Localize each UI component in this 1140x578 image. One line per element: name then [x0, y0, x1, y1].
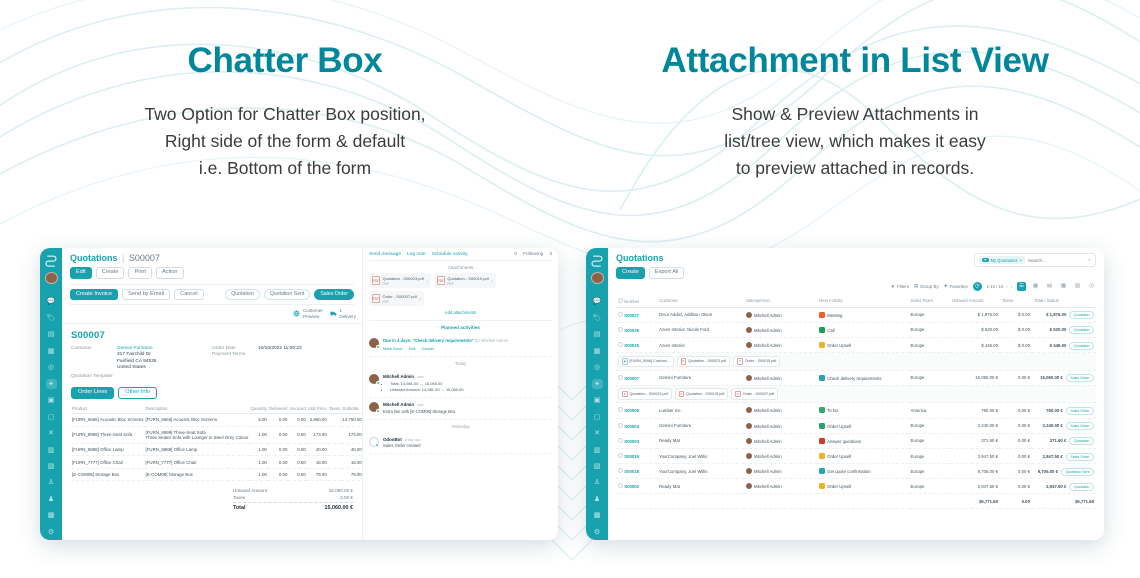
screenshot-list-view: 💬 🏷 ▤ ▦ ◎ ✦ ▣ ▢ ✕ ▥ ▧ ♙ ♟ ▩ ⚙ Quotations…	[586, 248, 1104, 540]
avatar	[369, 437, 379, 447]
sidebar-icon-employees[interactable]: ▧	[46, 461, 57, 471]
cell-delivered: 0.00	[268, 426, 289, 443]
send-by-email-button[interactable]: Send by Email	[122, 289, 170, 301]
day-separator: Yesterday	[369, 424, 552, 429]
cell-quantity: 5.00	[250, 414, 268, 426]
pivot-view-icon[interactable]: ▩	[1059, 282, 1068, 291]
avatar	[746, 312, 752, 318]
pdf-icon: PDF	[437, 276, 445, 285]
cell-invoiced: 0.00	[288, 414, 306, 426]
cell-next-activity: Call	[817, 322, 908, 337]
pdf-icon: P	[737, 358, 743, 365]
avatar[interactable]	[591, 272, 604, 284]
sidebar-icon-crm[interactable]: ✦	[46, 379, 57, 389]
chatter-panel: Send message Log note Schedule activity …	[362, 248, 558, 540]
sidebar-icon-contacts[interactable]: ♟	[46, 494, 57, 504]
globe-icon	[293, 310, 300, 317]
activity-icon	[819, 327, 825, 333]
subtitle-line: Show & Preview Attachments in	[570, 101, 1140, 128]
sidebar-icon-purchase[interactable]: ◎	[46, 362, 57, 372]
cell-sales-team: Europe	[909, 418, 950, 433]
cell-next-activity: Answer questions	[817, 433, 908, 448]
table-row[interactable]: [FURN_8888] Office Lamp[FURN_8888] Offic…	[71, 444, 366, 456]
col-quantity[interactable]: Quantity	[250, 404, 268, 414]
row-checkbox[interactable]	[618, 453, 623, 458]
create-invoice-button[interactable]: Create Invoice	[70, 289, 118, 301]
smart-label-bottom: Delivery	[339, 314, 356, 320]
sidebar-icon-inventory[interactable]: ▦	[592, 346, 603, 356]
cancel-button[interactable]: Cancel	[174, 289, 203, 301]
sidebar-icon-apps[interactable]: ▩	[592, 510, 603, 520]
attachment-name: Quotation - S00015.pdf	[686, 392, 724, 396]
avatar	[746, 423, 752, 429]
field-row: 317 Fairchild Dr	[71, 352, 212, 357]
col-customer[interactable]: Customer	[657, 295, 744, 308]
chatter-action-bar: Send message Log note Schedule activity …	[369, 252, 552, 261]
field-row: Fairfield CA 94535	[71, 359, 212, 364]
search-input[interactable]	[1028, 258, 1085, 263]
activity-icon	[819, 468, 825, 474]
cell-salesperson: Mitchell Admin	[744, 370, 817, 385]
day-separator: Today	[369, 361, 552, 366]
page-subtitle-right: Show & Preview Attachments in list/tree …	[570, 101, 1140, 183]
form-body: S00007 Customer Gemini Furniture 317 Fai…	[62, 324, 362, 519]
attachment-chip[interactable]: POrder - S00007.pdf	[731, 388, 778, 400]
status-badge: Quotation	[1069, 437, 1094, 445]
sidebar-icon-timesheets[interactable]: ▥	[46, 444, 57, 454]
sidebar-icon-recruitment[interactable]: ♙	[46, 477, 57, 487]
cell-taxes: $ 0.00	[1000, 307, 1032, 322]
add-attachments-button[interactable]: Add attachments	[369, 310, 552, 315]
field-row: Quotation Template	[71, 374, 212, 379]
cell-salesperson: Mitchell Admin	[744, 418, 817, 433]
status-badge: Sales Order	[1066, 422, 1094, 430]
smart-buttons: Customer Preview 1 Delivery	[62, 305, 362, 323]
odoo-logo-icon[interactable]	[589, 253, 605, 268]
cell-salesperson: Mitchell Admin	[744, 464, 817, 479]
sidebar-icon-discuss[interactable]: 💬	[46, 296, 57, 306]
status-badge: Quotation	[1069, 483, 1094, 491]
sidebar-icon-purchase[interactable]: ◎	[592, 362, 603, 372]
cell-salesperson: Mitchell Admin	[744, 322, 817, 337]
follower-num[interactable]: 3	[549, 252, 552, 257]
col-description[interactable]: Description	[145, 404, 250, 414]
cell-customer: Ready Mat	[657, 479, 744, 494]
message-text: Sales Order created	[383, 443, 552, 449]
attachment-name: Quotation - S00023.pdf	[688, 359, 726, 363]
page-title-right: Attachment in List View	[570, 42, 1140, 81]
cell-untaxed: 2,947.50 €	[950, 448, 1000, 463]
download-icon[interactable]: ⤓	[426, 279, 428, 283]
cell-next-activity: Meeting	[817, 307, 908, 322]
total-value: 15,060.00 €	[329, 488, 353, 493]
search-bar[interactable]: ▼ My Quotations × ⌕	[974, 253, 1096, 267]
cell-quantity: 1.00	[250, 456, 268, 468]
cell-description: [FURN_7777] Office Chair	[145, 456, 250, 468]
kanban-view-icon[interactable]: ▦	[1031, 282, 1040, 291]
sidebar-icon-project[interactable]: ▣	[46, 395, 57, 405]
cell-invoiced: 0.00	[288, 468, 306, 480]
graph-view-icon[interactable]: ▨	[1073, 282, 1082, 291]
avatar	[746, 438, 752, 444]
cell-taxes: 0.00 €	[1000, 448, 1032, 463]
field-column-right: Order Date 10/10/2022 11:00:23 Payment T…	[212, 346, 353, 381]
sidebar-icon-employees[interactable]: ▧	[592, 461, 603, 471]
action-button[interactable]: Action	[156, 267, 184, 279]
cell-invoiced: 0.00	[288, 426, 306, 443]
control-panel: Quotations | S00007 Edit Create Print Ac…	[62, 248, 362, 305]
tab-order-lines[interactable]: Order Lines	[71, 387, 114, 400]
cell-next-activity: To Do	[817, 403, 908, 418]
status-badge: Quotation	[1069, 311, 1094, 319]
cell-unit-price: 79.00	[307, 468, 328, 480]
table-row[interactable]: S00018YourCompany, Joel WillisMitchell A…	[616, 464, 1096, 479]
attachment-name: Order - S00015.pdf	[745, 359, 777, 363]
page-title-left: Chatter Box	[0, 42, 570, 81]
cancel-activity-button[interactable]: Cancel	[421, 346, 433, 352]
cell-taxes	[328, 414, 341, 426]
cell-untaxed: $ 520.00	[950, 322, 1000, 337]
status-badge: Sales Order	[1066, 407, 1094, 415]
message-author: Mitchell Admin	[383, 402, 414, 407]
table-row[interactable]: S00003Ready MatMitchell AdminAnswer ques…	[616, 433, 1096, 448]
field-column-left: Customer Gemini Furniture 317 Fairchild …	[71, 346, 212, 381]
log-note-button[interactable]: Log note	[407, 252, 426, 257]
mark-done-button[interactable]: Mark Done	[383, 346, 403, 352]
attachment-chip[interactable]: PQuotation - S00023.pdf	[677, 356, 731, 368]
calendar-view-icon[interactable]: ▤	[1045, 282, 1054, 291]
field-row: Customer Gemini Furniture	[71, 346, 212, 351]
col-unit-price[interactable]: Unit Price	[307, 404, 328, 414]
smart-label-bottom: Preview	[303, 314, 323, 320]
row-checkbox[interactable]	[618, 468, 623, 473]
breadcrumb-root[interactable]: Quotations	[70, 253, 118, 263]
col-taxes[interactable]: Taxes	[328, 404, 341, 414]
screenshot-form-view: 💬 🏷 ▤ ▦ ◎ ✦ ▣ ▢ ✕ ▥ ▧ ♙ ♟ ▩ ⚙ Quotations…	[40, 248, 558, 540]
total-row-total: Total 15,060.00 €	[233, 502, 353, 513]
sidebar-icon-contacts[interactable]: ♟	[592, 494, 603, 504]
status-quotation[interactable]: Quotation	[225, 289, 260, 300]
pager[interactable]: 1-10 / 10 ‹ ›	[987, 284, 1012, 289]
sidebar-icon-timesheets[interactable]: ▥	[592, 444, 603, 454]
pager-prev-icon[interactable]: ‹	[1006, 284, 1007, 289]
list-toolbar: ▼ Filters ▤ Group By ★ Favorites ◷ 1-10 …	[608, 279, 1104, 295]
attachment-name: Quotation - S00023.pdf	[630, 392, 668, 396]
cell-number: S00027	[616, 307, 657, 322]
footer-total: 36,771.60	[1032, 494, 1096, 508]
col-invoiced[interactable]: Invoiced	[288, 404, 306, 414]
attachment-chip-list: ▣[FURN_0096] Customi...PQuotation - S000…	[618, 356, 1094, 368]
sidebar-icon-invoicing[interactable]: ▤	[592, 329, 603, 339]
avatar	[746, 342, 752, 348]
cell-untaxed: $ 1,876.00	[950, 307, 1000, 322]
header-column-right: Attachment in List View Show & Preview A…	[570, 0, 1140, 215]
sidebar-icon-discuss[interactable]: 💬	[592, 296, 603, 306]
attachment-type: PDF	[383, 300, 389, 304]
print-button[interactable]: Print	[128, 267, 152, 279]
cell-quantity: 1.00	[250, 468, 268, 480]
sidebar-icon-project[interactable]: ▣	[592, 395, 603, 405]
field-grid: Customer Gemini Furniture 317 Fairchild …	[71, 346, 353, 381]
cell-number: S00025	[616, 337, 657, 352]
activity-icon	[819, 312, 825, 318]
col-taxes[interactable]: Taxes	[1000, 295, 1032, 308]
table-row[interactable]: S00007Gemini FurnitureMitchell AdminChec…	[616, 370, 1096, 385]
row-checkbox[interactable]	[618, 375, 623, 380]
message-author: Mitchell Admin	[383, 374, 414, 379]
field-label-payment-terms: Payment Terms	[212, 352, 258, 357]
table-row[interactable]: S00019YourCompany, Joel WillisMitchell A…	[616, 448, 1096, 463]
download-icon[interactable]: ⤓	[491, 279, 493, 283]
col-salesperson[interactable]: Salesperson	[744, 295, 817, 308]
table-row[interactable]: [FURN_7777] Office Chair[FURN_7777] Offi…	[71, 456, 366, 468]
avatar	[746, 468, 752, 474]
cell-taxes: $ 0.00	[1000, 337, 1032, 352]
avatar	[746, 453, 752, 459]
schedule-activity-button[interactable]: Schedule activity	[432, 252, 468, 257]
cell-delivered: 0.00	[268, 414, 289, 426]
total-label: Total	[233, 505, 245, 511]
cell-next-activity: Get quote confirmation	[817, 464, 908, 479]
cell-total-status: $ 520.00Quotation	[1032, 322, 1096, 337]
attachment-chip[interactable]: POrder - S00015.pdf	[733, 356, 780, 368]
col-total-status[interactable]: Total / Status	[1032, 295, 1096, 308]
cell-salesperson: Mitchell Admin	[744, 403, 817, 418]
row-checkbox[interactable]	[618, 438, 623, 443]
cell-number: S00004	[616, 418, 657, 433]
order-lines-table: Product Description Quantity Delivered I…	[71, 404, 366, 481]
table-row[interactable]: [FURN_8999] Three-Seat Sofa[FURN_8999] T…	[71, 426, 366, 443]
avatar	[369, 402, 379, 412]
total-label: Taxes	[233, 495, 245, 500]
send-message-button[interactable]: Send message	[369, 252, 401, 257]
status-badge: Sales Order	[1066, 374, 1094, 382]
table-footer-row: 36,771.60 0.00 36,771.60	[616, 494, 1096, 508]
list-button-row: Create Export All	[616, 267, 684, 279]
row-checkbox[interactable]	[618, 312, 623, 317]
cell-delivered: 0.00	[268, 444, 289, 456]
app-sidebar-left[interactable]: 💬 🏷 ▤ ▦ ◎ ✦ ▣ ▢ ✕ ▥ ▧ ♙ ♟ ▩ ⚙	[40, 248, 62, 540]
attachments-title: Attachments	[369, 265, 552, 270]
sidebar-icon-apps[interactable]: ▩	[46, 510, 57, 520]
activity-subject: "Check delivery requirements"	[413, 338, 474, 343]
field-label: Customer	[71, 346, 117, 351]
message-bullet: Untaxed Amount: 14,981.00 → 15,060.00	[390, 387, 552, 393]
footer-untaxed: 36,771.60	[950, 494, 1000, 508]
pdf-icon: P	[735, 391, 741, 398]
cell-unit-price: 18.00	[307, 456, 328, 468]
sidebar-icon-inventory[interactable]: ▦	[46, 346, 57, 356]
cell-customer: Gemini Furniture	[657, 370, 744, 385]
cell-next-activity: Order Upsell	[817, 337, 908, 352]
attachment-chip[interactable]: PDFQuotation - S00023.pdfPDF⤓	[369, 273, 431, 288]
sidebar-icon-settings[interactable]: ⚙	[46, 527, 57, 537]
cell-total-status: 9,705.00 €Quotation Sent	[1032, 464, 1096, 479]
table-row[interactable]: S00027Deco Addict, Addison OlsonMitchell…	[616, 307, 1096, 322]
attachment-chip-list: PDFQuotation - S00023.pdfPDF⤓PDFQuotatio…	[369, 273, 552, 306]
table-row[interactable]: [E-COM08] Storage Box[E-COM08] Storage B…	[71, 468, 366, 480]
totals-block: Untaxed Amount 15,060.00 € Taxes 0.00 € …	[233, 486, 353, 512]
favorites-button[interactable]: ★ Favorites	[944, 283, 968, 289]
attachment-name: Order - S00007.pdf	[383, 294, 417, 299]
sidebar-icon-website[interactable]: ▢	[592, 411, 603, 421]
table-header-row: Product Description Quantity Delivered I…	[71, 404, 366, 414]
cell-customer: Azure Interior	[657, 337, 744, 352]
sidebar-icon-recruitment[interactable]: ♙	[592, 477, 603, 487]
cell-total-status: 371.60 €Quotation	[1032, 433, 1096, 448]
cell-number: S00002	[616, 479, 657, 494]
export-all-button[interactable]: Export All	[649, 267, 685, 279]
group-by-button[interactable]: ▤ Group By	[914, 283, 939, 289]
cell-next-activity: Order Upsell	[817, 418, 908, 433]
row-checkbox[interactable]	[618, 327, 623, 332]
facet-label: My Quotations	[991, 258, 1018, 263]
field-value-order-date[interactable]: 10/10/2022 11:00:23	[258, 346, 302, 351]
form-notebook-tabs: Order Lines Other Info	[71, 387, 353, 400]
sidebar-icon-manufacturing[interactable]: ✕	[592, 428, 603, 438]
search-icon[interactable]: ⌕	[1088, 257, 1091, 263]
sidebar-icon-website[interactable]: ▢	[46, 411, 57, 421]
list-pane: Quotations Create Export All ▼ My Quotat…	[608, 248, 1104, 540]
col-number[interactable]: Number	[616, 295, 657, 308]
attachment-chip[interactable]: PQuotation - S00023.pdf	[618, 388, 672, 400]
cell-salesperson: Mitchell Admin	[744, 433, 817, 448]
subtitle-line: Right side of the form & default	[0, 128, 570, 155]
cell-number: S00026	[616, 322, 657, 337]
tab-other-info[interactable]: Other Info	[118, 387, 157, 400]
cell-unit-price: 173.00	[307, 426, 328, 443]
avatar[interactable]	[45, 272, 58, 284]
activity-buttons: Mark Done Edit Cancel	[383, 346, 552, 352]
sidebar-icon-invoicing[interactable]: ▤	[46, 329, 57, 339]
table-row[interactable]: S00026Azure Interior, Nicole FordMitchel…	[616, 322, 1096, 337]
truck-icon	[330, 310, 337, 317]
status-quotation-sent[interactable]: Quotation Sent	[264, 289, 311, 300]
row-checkbox[interactable]	[618, 407, 623, 412]
sidebar-icon-settings[interactable]: ⚙	[592, 527, 603, 537]
sidebar-icon-sales[interactable]: 🏷	[592, 313, 603, 323]
odoo-logo-icon[interactable]	[43, 253, 59, 268]
sidebar-icon-crm[interactable]: ✦	[592, 379, 603, 389]
list-control-panel: Quotations Create Export All ▼ My Quotat…	[608, 248, 1104, 279]
table-row[interactable]: S00006Lumber IncMitchell AdminTo DoAmeri…	[616, 403, 1096, 418]
col-product[interactable]: Product	[71, 404, 145, 414]
cell-total-status: 760.00 €Sales Order	[1032, 403, 1096, 418]
sidebar-icon-sales[interactable]: 🏷	[46, 313, 57, 323]
cell-sales-team: Europe	[909, 448, 950, 463]
cell-sales-team: Europe	[909, 322, 950, 337]
attachment-chip[interactable]: PDFOrder - S00007.pdfPDF⤓	[369, 291, 424, 306]
app-sidebar-right[interactable]: 💬 🏷 ▤ ▦ ◎ ✦ ▣ ▢ ✕ ▥ ▧ ♙ ♟ ▩ ⚙	[586, 248, 608, 540]
row-checkbox[interactable]	[618, 342, 623, 347]
list-view-icon[interactable]: ☰	[1017, 282, 1026, 291]
attachment-chip[interactable]: PQuotation - S00015.pdf	[675, 388, 729, 400]
customer-street: 317 Fairchild Dr	[117, 352, 151, 357]
chatter-message: OdooBota day agoSales Order created	[369, 433, 552, 454]
table-row[interactable]: S00025Azure InteriorMitchell AdminOrder …	[616, 337, 1096, 352]
table-row[interactable]: [FURN_6666] Acoustic Bloc Screens[FURN_6…	[71, 414, 366, 426]
cell-sales-team: Europe	[909, 464, 950, 479]
attachment-name: Quotation - S00010.pdf	[447, 276, 488, 281]
pdf-icon: P	[681, 358, 687, 365]
pdf-icon: PDF	[372, 294, 380, 303]
attachment-chip[interactable]: PDFQuotation - S00010.pdfPDF⤓	[434, 273, 496, 288]
close-icon[interactable]: ×	[1020, 258, 1022, 263]
activity-view-icon[interactable]: ◷	[1087, 282, 1096, 291]
edit-button[interactable]: Edit	[70, 267, 92, 279]
chatter-message: Mitchell AdminnowTotal: 14,981.00 → 15,0…	[369, 370, 552, 398]
cell-taxes	[328, 456, 341, 468]
avatar	[746, 327, 752, 333]
cell-description: [FURN_6666] Acoustic Bloc Screens	[145, 414, 250, 426]
cell-invoiced: 0.00	[288, 444, 306, 456]
status-badge: Quotation	[1069, 342, 1094, 350]
cell-taxes	[328, 468, 341, 480]
field-value-customer[interactable]: Gemini Furniture	[117, 346, 153, 351]
cell-description: [FURN_8888] Office Lamp	[145, 444, 250, 456]
create-button[interactable]: Create	[96, 267, 125, 279]
activity-icon	[819, 423, 825, 429]
subtitle-line: i.e. Bottom of the form	[0, 155, 570, 182]
edit-activity-button[interactable]: Edit	[409, 346, 416, 352]
form-button-row: Edit Create Print Action	[70, 267, 354, 279]
sidebar-icon-manufacturing[interactable]: ✕	[46, 428, 57, 438]
cell-taxes: 0.00 €	[1000, 479, 1032, 494]
row-checkbox[interactable]	[618, 483, 623, 488]
col-untaxed-amount[interactable]: Untaxed Amount	[950, 295, 1000, 308]
cell-delivered: 0.00	[268, 468, 289, 480]
smart-button-delivery[interactable]: 1 Delivery	[330, 308, 356, 319]
cell-sales-team: Europe	[909, 337, 950, 352]
message-time: a day ago	[405, 438, 421, 442]
filters-button[interactable]: ▼ Filters	[891, 284, 909, 289]
pager-next-icon[interactable]: ›	[1011, 284, 1012, 289]
table-row[interactable]: S00004Gemini FurnitureMitchell AdminOrde…	[616, 418, 1096, 433]
quotations-table: Number Customer Salesperson Next Activit…	[616, 295, 1096, 509]
message-author: OdooBot	[383, 437, 402, 442]
cell-total-status: 2,947.50 €Sales Order	[1032, 448, 1096, 463]
search-facet-my-quotations[interactable]: ▼ My Quotations ×	[979, 256, 1025, 264]
cell-taxes: 0.00 €	[1000, 418, 1032, 433]
attachment-name: [FURN_0096] Customi...	[630, 359, 670, 363]
row-checkbox[interactable]	[618, 423, 623, 428]
field-label-quotation-template: Quotation Template	[71, 374, 131, 379]
message-bullets: Total: 14,981.00 → 15,060.00Untaxed Amou…	[390, 381, 552, 393]
follow-button[interactable]: Following	[523, 252, 543, 257]
breadcrumb-separator: |	[122, 253, 124, 263]
activity-assignee: for Mitchell Admin	[475, 338, 508, 343]
cell-number: S00006	[616, 403, 657, 418]
col-delivered[interactable]: Delivered	[268, 404, 289, 414]
cell-next-activity: Order Upsell	[817, 448, 908, 463]
col-sales-team[interactable]: Sales Team	[909, 295, 950, 308]
status-badge: Quotation Sent	[1061, 468, 1094, 476]
chatter-thread: TodayMitchell AdminnowTotal: 14,981.00 →…	[369, 361, 552, 454]
cell-unit-price: 2,950.00	[307, 414, 328, 426]
attachment-chip[interactable]: ▣[FURN_0096] Customi...	[618, 356, 674, 368]
table-row[interactable]: S00002Ready MatMitchell AdminOrder Upsel…	[616, 479, 1096, 494]
followers-count[interactable]: 0	[514, 252, 517, 257]
cell-delivered: 0.00	[268, 456, 289, 468]
message-time: now	[417, 403, 424, 407]
col-next-activity[interactable]: Next Activity	[817, 295, 908, 308]
cell-quantity: 1.00	[250, 444, 268, 456]
download-icon[interactable]: ⤓	[419, 297, 421, 301]
smart-button-customer-preview[interactable]: Customer Preview	[293, 308, 322, 319]
status-sales-order[interactable]: Sales Order	[314, 289, 354, 300]
create-button[interactable]: Create	[616, 267, 645, 279]
breadcrumb: Quotations | S00007	[70, 253, 354, 263]
